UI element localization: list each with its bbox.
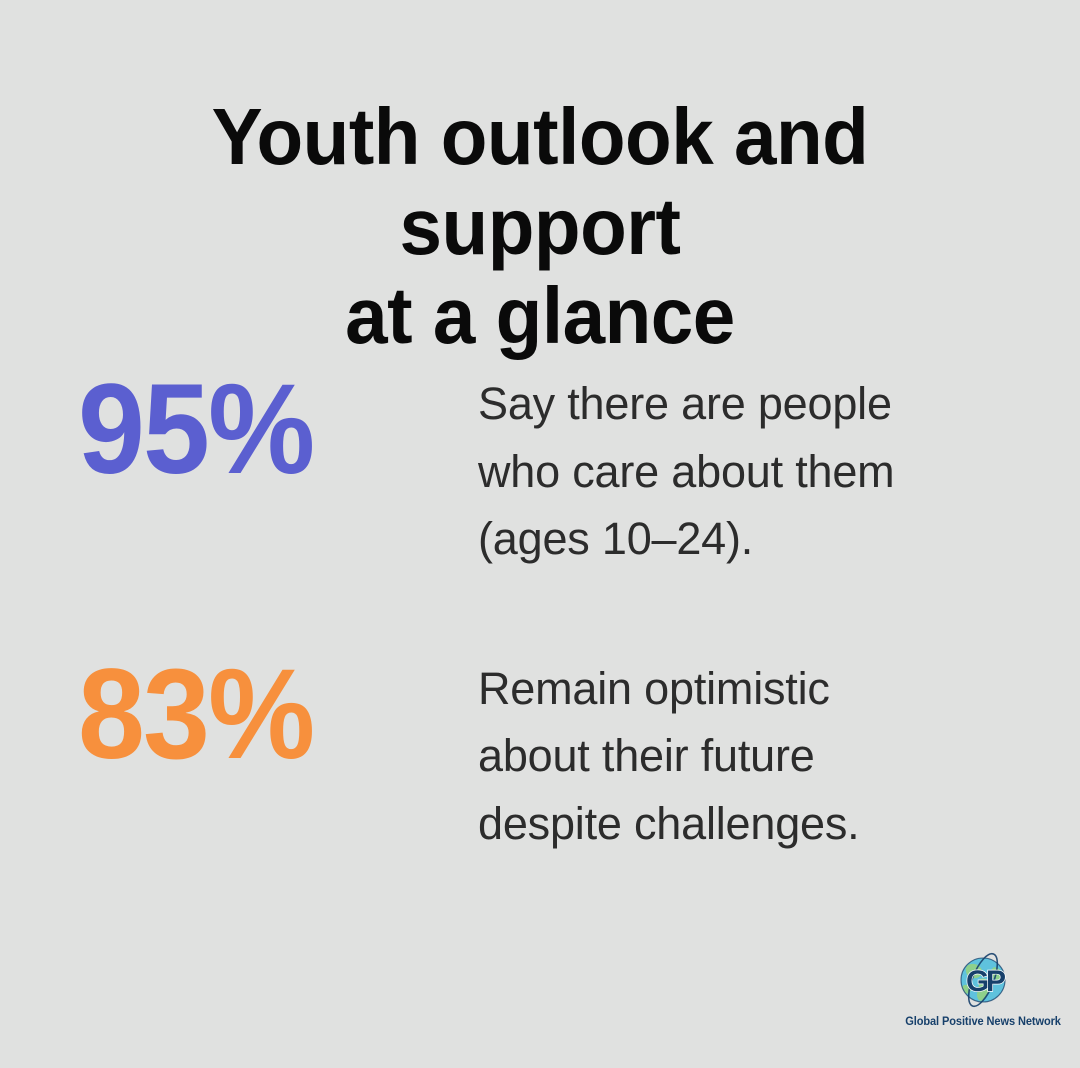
title-block: Youth outlook and support at a glance bbox=[50, 92, 1030, 361]
logo-letter-p: P bbox=[986, 965, 1006, 998]
stat-value-83: 83% bbox=[78, 651, 454, 779]
stat-row: 83% Remain optimistic about their future… bbox=[0, 645, 1080, 858]
logo-caption: Global Positive News Network bbox=[905, 1016, 1061, 1028]
stat-description-83: Remain optimistic about their future des… bbox=[478, 655, 956, 858]
stat-description-95: Say there are people who care about them… bbox=[478, 370, 956, 573]
statistics-list: 95% Say there are people who care about … bbox=[0, 360, 1080, 857]
page-title: Youth outlook and support at a glance bbox=[72, 92, 1008, 361]
brand-logo: G P Global Positive News Network bbox=[920, 949, 1046, 1028]
stat-row: 95% Say there are people who care about … bbox=[0, 360, 1080, 573]
stat-value-95: 95% bbox=[78, 366, 454, 494]
infographic-canvas: Youth outlook and support at a glance 95… bbox=[0, 0, 1080, 1068]
globe-icon: G P bbox=[946, 949, 1020, 1015]
